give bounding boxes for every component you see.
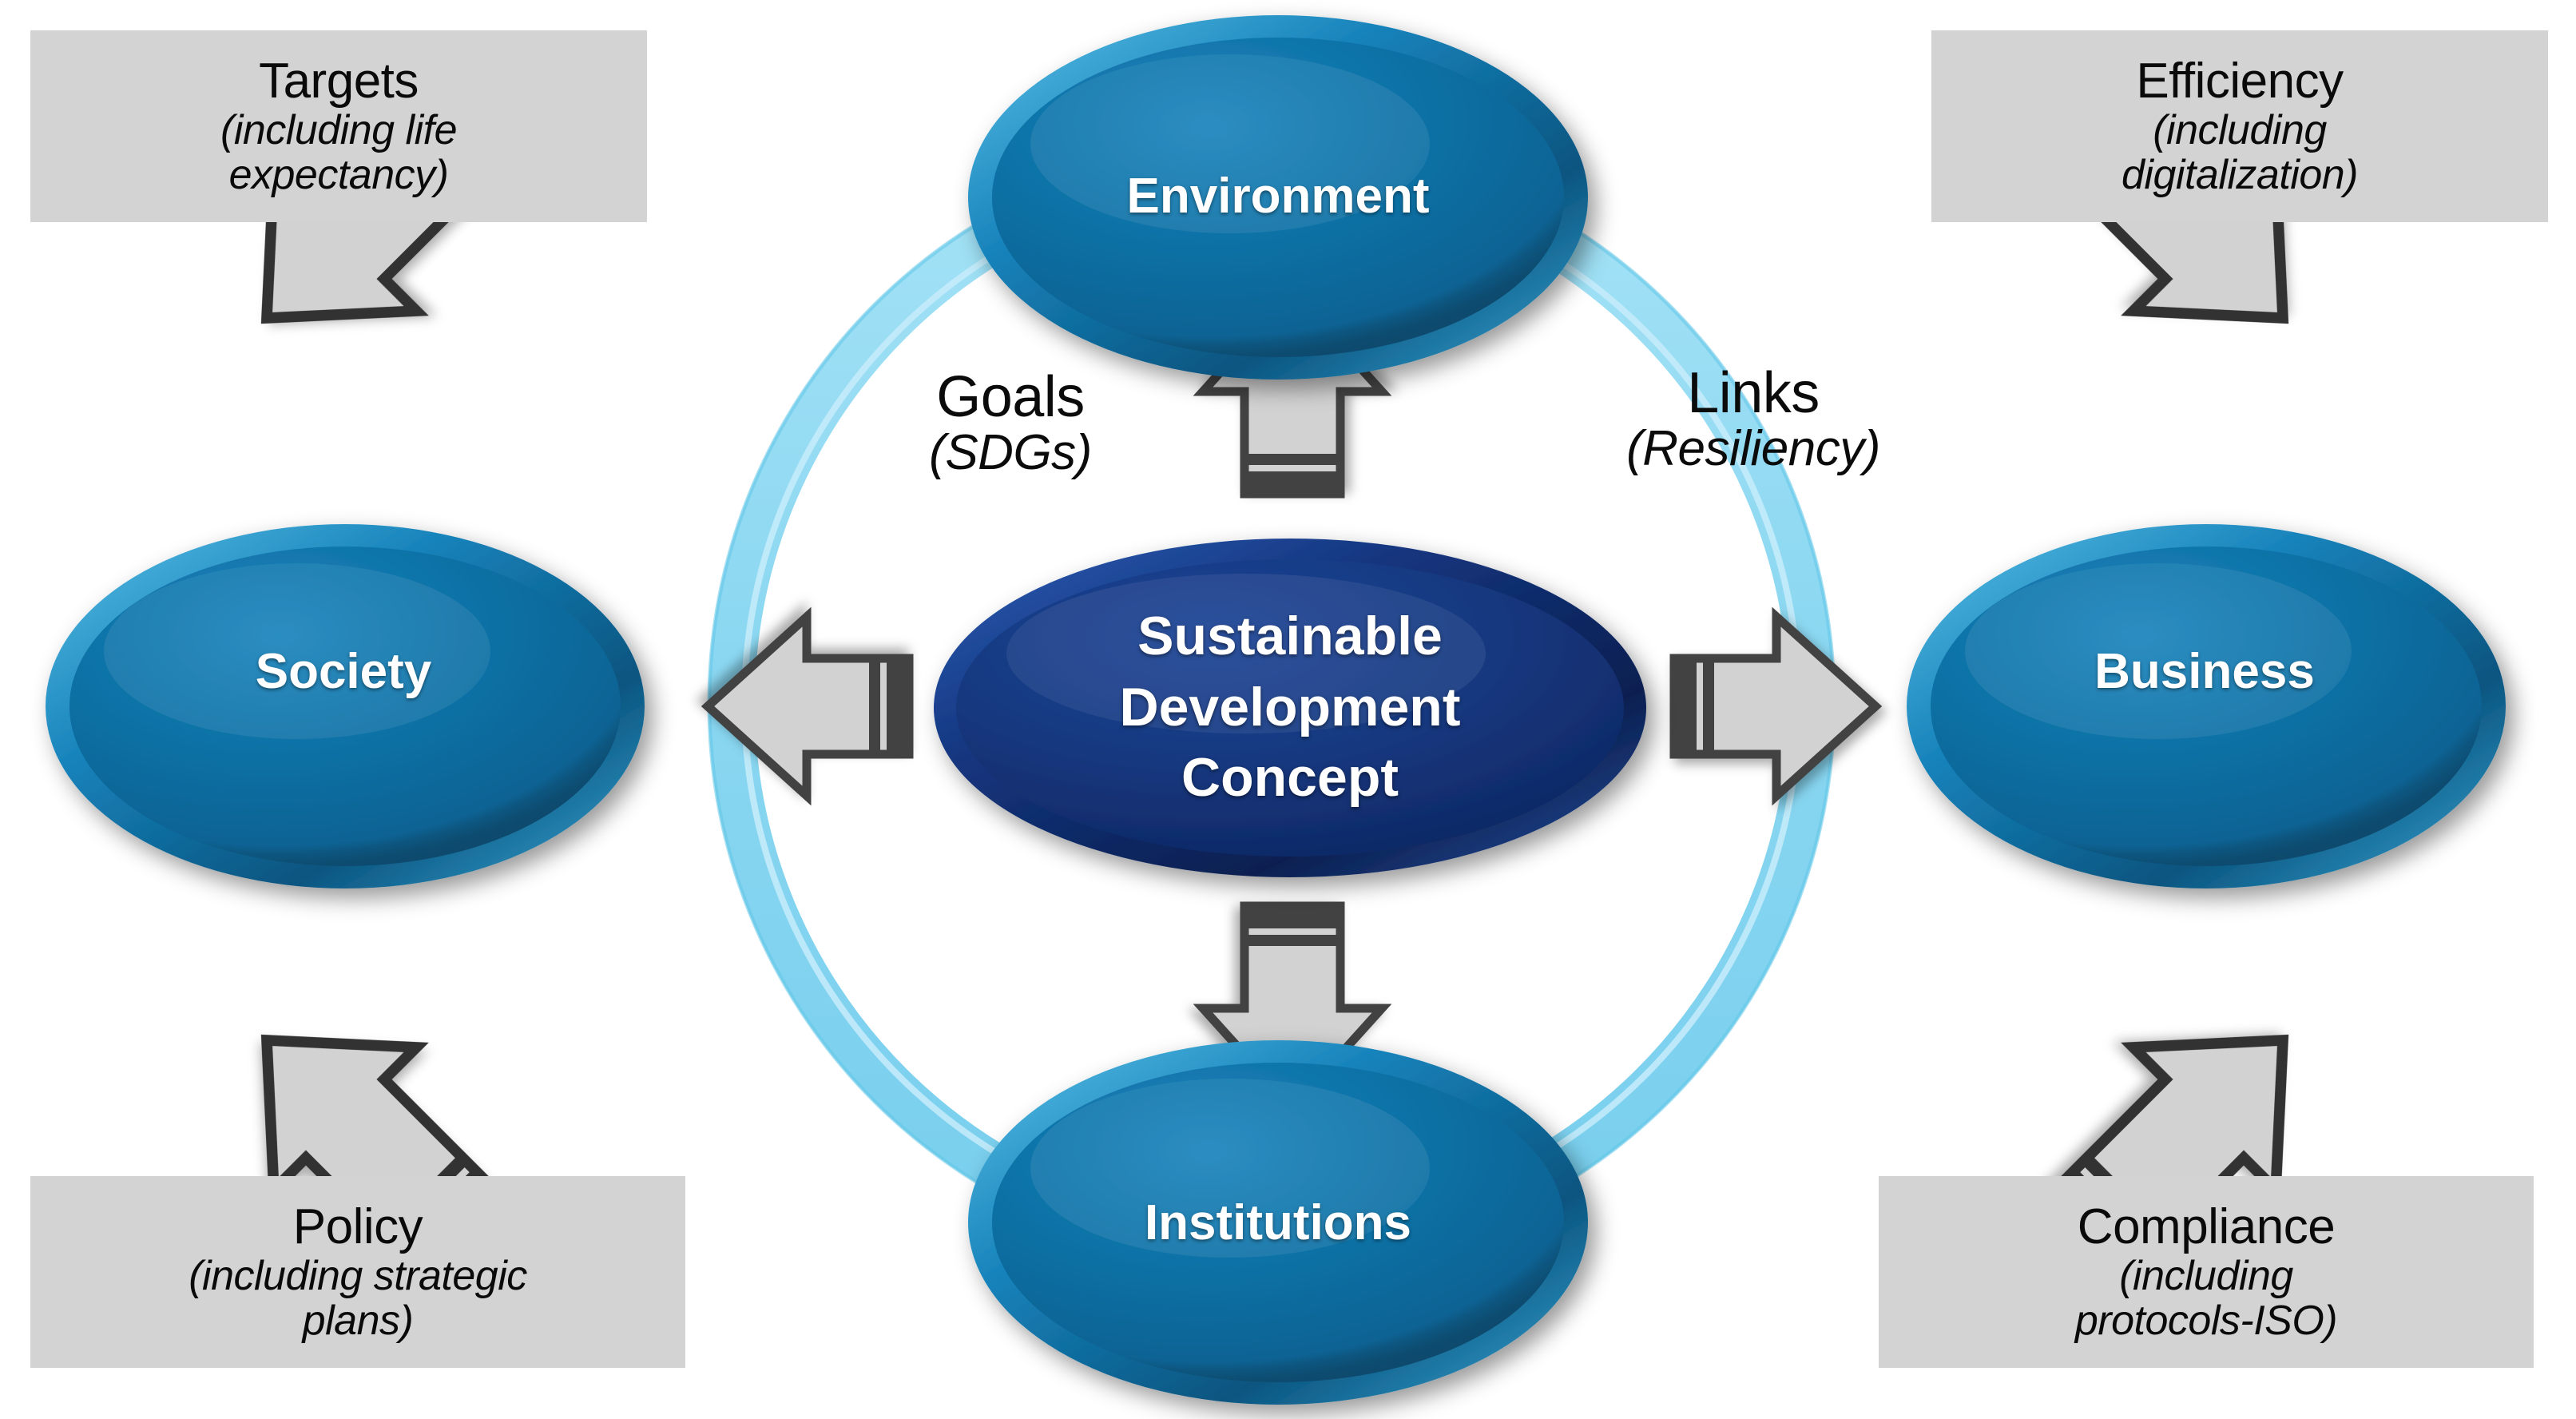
outcome-subtitle-policy-line1: (including strategic — [189, 1254, 527, 1298]
outcome-box-targets: Targets (including life expectancy) — [30, 30, 647, 222]
outcome-subtitle-efficiency-line1: (including — [2153, 108, 2327, 153]
outcome-box-policy: Policy (including strategic plans) — [30, 1176, 685, 1368]
outcome-subtitle-compliance-line1: (including — [2119, 1254, 2293, 1298]
inner-label-goals: Goals (SDGs) — [843, 368, 1178, 479]
outcome-title-policy: Policy — [293, 1201, 423, 1254]
outcome-title-efficiency: Efficiency — [2136, 55, 2343, 108]
inner-label-links-title: Links — [1566, 364, 1941, 423]
inner-label-goals-title: Goals — [843, 368, 1178, 427]
diagram-canvas: Environment Society Business Institution… — [0, 0, 2576, 1419]
inner-label-links-subtitle: (Resiliency) — [1566, 423, 1941, 475]
outcome-box-compliance: Compliance (including protocols-ISO) — [1879, 1176, 2534, 1368]
outcome-box-efficiency: Efficiency (including digitalization) — [1931, 30, 2548, 222]
node-society[interactable] — [46, 524, 645, 888]
node-institutions[interactable] — [968, 1040, 1588, 1405]
node-center-concept[interactable] — [934, 539, 1646, 877]
outcome-subtitle-targets-line1: (including life — [220, 108, 457, 153]
outcome-subtitle-policy-line2: plans) — [303, 1298, 414, 1343]
arrow-center-to-business — [1674, 617, 1875, 796]
outcome-subtitle-compliance-line2: protocols-ISO) — [2075, 1298, 2337, 1343]
outcome-subtitle-efficiency-line2: digitalization) — [2122, 153, 2358, 197]
inner-label-goals-subtitle: (SDGs) — [843, 427, 1178, 479]
node-environment[interactable] — [968, 15, 1588, 380]
node-business[interactable] — [1907, 524, 2506, 888]
outcome-title-compliance: Compliance — [2078, 1201, 2335, 1254]
outcome-subtitle-targets-line2: expectancy) — [229, 153, 449, 197]
inner-label-links: Links (Resiliency) — [1566, 364, 1941, 475]
outcome-title-targets: Targets — [259, 55, 419, 108]
